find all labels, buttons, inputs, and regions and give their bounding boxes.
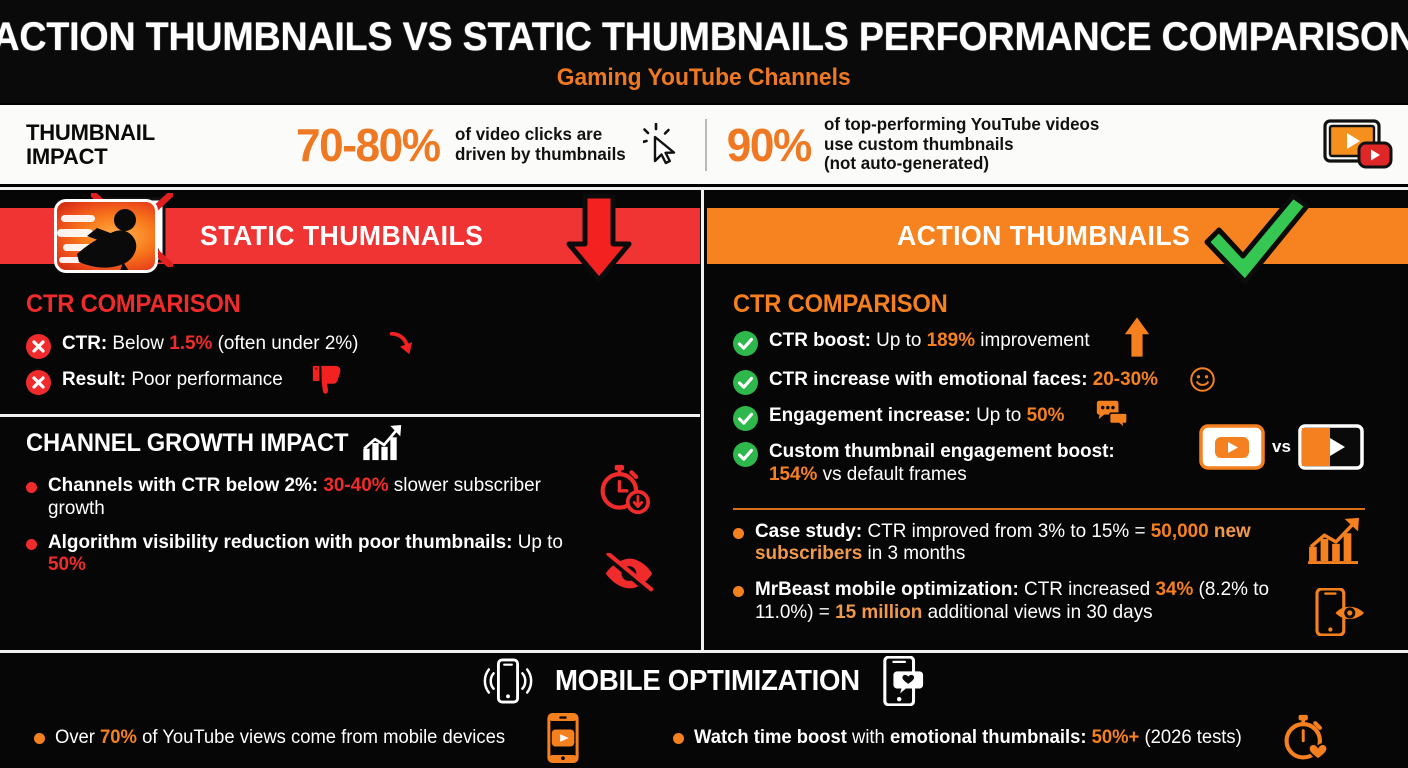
youtube-screen-icon bbox=[1320, 117, 1394, 173]
green-check-circle-icon bbox=[733, 406, 758, 431]
right-ctr-item-1-text: CTR boost: Up to 189% improvement bbox=[769, 329, 1090, 352]
growth-item-1-text: Channels with CTR below 2%: 30-40% slowe… bbox=[48, 474, 587, 520]
action-banner-title: ACTION THUMBNAILS bbox=[897, 208, 1190, 264]
orange-bullet-dot bbox=[673, 733, 684, 744]
click-cursor-icon bbox=[643, 123, 687, 167]
orange-bullet-dot bbox=[733, 528, 744, 539]
left-ctr-list: CTR: Below 1.5% (often under 2%) bbox=[26, 332, 700, 396]
growth-item-2-text: Algorithm visibility reduction with poor… bbox=[48, 531, 587, 577]
up-arrow-icon bbox=[1123, 315, 1151, 359]
impact-stat-1-line1: of video clicks are bbox=[455, 125, 626, 145]
list-item: CTR: Below 1.5% (often under 2%) bbox=[26, 332, 700, 359]
green-check-circle-icon bbox=[733, 370, 758, 395]
case-study-item-1-text: Case study: CTR improved from 3% to 15% … bbox=[755, 520, 1282, 566]
mobile-optimization-section: MOBILE OPTIMIZATION Over 70% of YouTube … bbox=[0, 653, 1408, 768]
impact-stat-1-line2: driven by thumbnails bbox=[455, 145, 626, 165]
impact-stat-1-value: 70-80% bbox=[296, 118, 440, 172]
impact-label-line1: THUMBNAIL bbox=[26, 121, 231, 144]
default-frame-icon bbox=[1298, 424, 1364, 470]
footer-title: MOBILE OPTIMIZATION bbox=[555, 665, 860, 698]
green-check-circle-icon bbox=[733, 442, 758, 467]
impact-label-line2: IMPACT bbox=[26, 145, 231, 168]
impact-stat-2-text: of top-performing YouTube videos use cus… bbox=[824, 115, 1099, 174]
list-item: Algorithm visibility reduction with poor… bbox=[26, 531, 700, 577]
chat-bubbles-icon bbox=[1095, 400, 1128, 430]
right-ctr-item-4-text: Custom thumbnail engagement boost:154% v… bbox=[769, 440, 1115, 486]
impact-label: THUMBNAIL IMPACT bbox=[26, 121, 231, 168]
phone-heart-icon bbox=[881, 656, 925, 706]
phone-eye-icon bbox=[1315, 588, 1367, 636]
column-divider bbox=[701, 190, 704, 650]
impact-stat-1: 70-80% of video clicks are driven by thu… bbox=[293, 118, 687, 172]
impact-divider bbox=[705, 119, 707, 171]
thumbnail-versus-icon: vs bbox=[1199, 424, 1364, 470]
versus-label: vs bbox=[1272, 437, 1291, 457]
stopwatch-down-icon bbox=[598, 463, 650, 515]
case-study-item-2-text: MrBeast mobile optimization: CTR increas… bbox=[755, 578, 1282, 624]
channel-growth-heading-label: CHANNEL GROWTH IMPACT bbox=[26, 429, 348, 458]
left-ctr-heading: CTR COMPARISON bbox=[26, 290, 666, 319]
down-curve-arrow-icon bbox=[387, 330, 415, 358]
left-ctr-item-2-text: Result: Poor performance bbox=[62, 368, 283, 391]
orange-bullet-dot bbox=[733, 586, 744, 597]
header: ACTION THUMBNAILS VS STATIC THUMBNAILS P… bbox=[0, 0, 1408, 103]
smiley-face-icon bbox=[1189, 366, 1216, 393]
footer-bullets: Over 70% of YouTube views come from mobi… bbox=[0, 709, 1408, 767]
column-banners: STATIC THUMBNAILS ACTION THUMBNAILS bbox=[0, 190, 1408, 276]
impact-stat-2: 90% of top-performing YouTube videos use… bbox=[725, 115, 1408, 174]
growth-chart-icon bbox=[362, 424, 404, 462]
phone-play-icon bbox=[547, 713, 579, 763]
red-x-circle-icon bbox=[26, 334, 51, 359]
right-ctr-item-3-text: Engagement increase: Up to 50% bbox=[769, 404, 1064, 427]
green-check-circle-icon bbox=[733, 331, 758, 356]
footer-bullet-2-text: Watch time boost with emotional thumbnai… bbox=[694, 727, 1242, 749]
static-thumbnails-column: CTR COMPARISON CTR: Below 1.5% (often un… bbox=[0, 276, 700, 650]
right-ctr-item-2-text: CTR increase with emotional faces: 20-30… bbox=[769, 368, 1158, 391]
impact-stat-2-line3: (not auto-generated) bbox=[824, 154, 1099, 174]
page-subtitle: Gaming YouTube Channels bbox=[557, 66, 851, 90]
infographic-root: ACTION THUMBNAILS VS STATIC THUMBNAILS P… bbox=[0, 0, 1408, 768]
down-arrow-icon bbox=[563, 192, 635, 284]
impact-stat-2-line2: use custom thumbnails bbox=[824, 135, 1099, 155]
eye-off-icon bbox=[602, 553, 654, 594]
list-item: CTR increase with emotional faces: 20-30… bbox=[733, 368, 1408, 395]
footer-bullet-1: Over 70% of YouTube views come from mobi… bbox=[34, 713, 579, 763]
growth-chart-orange-icon bbox=[1307, 516, 1363, 564]
static-banner-title: STATIC THUMBNAILS bbox=[200, 208, 483, 264]
thumbnail-impact-bar: THUMBNAIL IMPACT 70-80% of video clicks … bbox=[0, 103, 1408, 187]
impact-stat-2-value: 90% bbox=[726, 118, 810, 172]
red-bullet-dot bbox=[26, 539, 37, 550]
thumbs-down-icon bbox=[311, 364, 343, 396]
red-x-circle-icon bbox=[26, 370, 51, 395]
right-section-rule bbox=[733, 508, 1365, 510]
right-ctr-heading: CTR COMPARISON bbox=[733, 290, 1374, 319]
stopwatch-heart-icon bbox=[1281, 713, 1331, 763]
phone-signal-icon bbox=[483, 658, 533, 704]
action-thumbnails-column: CTR COMPARISON CTR boost: Up to 189% imp… bbox=[707, 276, 1408, 650]
page-title: ACTION THUMBNAILS VS STATIC THUMBNAILS P… bbox=[0, 17, 1408, 57]
channel-growth-heading: CHANNEL GROWTH IMPACT bbox=[26, 424, 666, 462]
red-bullet-dot bbox=[26, 482, 37, 493]
orange-bullet-dot bbox=[34, 733, 45, 744]
custom-thumbnail-icon bbox=[1199, 424, 1265, 470]
list-item: CTR boost: Up to 189% improvement bbox=[733, 329, 1408, 359]
footer-bullet-1-text: Over 70% of YouTube views come from mobi… bbox=[55, 727, 505, 749]
footer-bullet-2: Watch time boost with emotional thumbnai… bbox=[673, 713, 1331, 763]
list-item: MrBeast mobile optimization: CTR increas… bbox=[733, 578, 1408, 624]
impact-stat-2-line1: of top-performing YouTube videos bbox=[824, 115, 1099, 135]
footer-title-row: MOBILE OPTIMIZATION bbox=[0, 653, 1408, 709]
green-check-icon bbox=[1197, 190, 1315, 288]
action-running-thumbnail-icon bbox=[54, 199, 158, 273]
list-item: Result: Poor performance bbox=[26, 368, 700, 396]
left-ctr-item-1-text: CTR: Below 1.5% (often under 2%) bbox=[62, 332, 358, 355]
impact-stat-1-text: of video clicks are driven by thumbnails bbox=[455, 125, 626, 164]
